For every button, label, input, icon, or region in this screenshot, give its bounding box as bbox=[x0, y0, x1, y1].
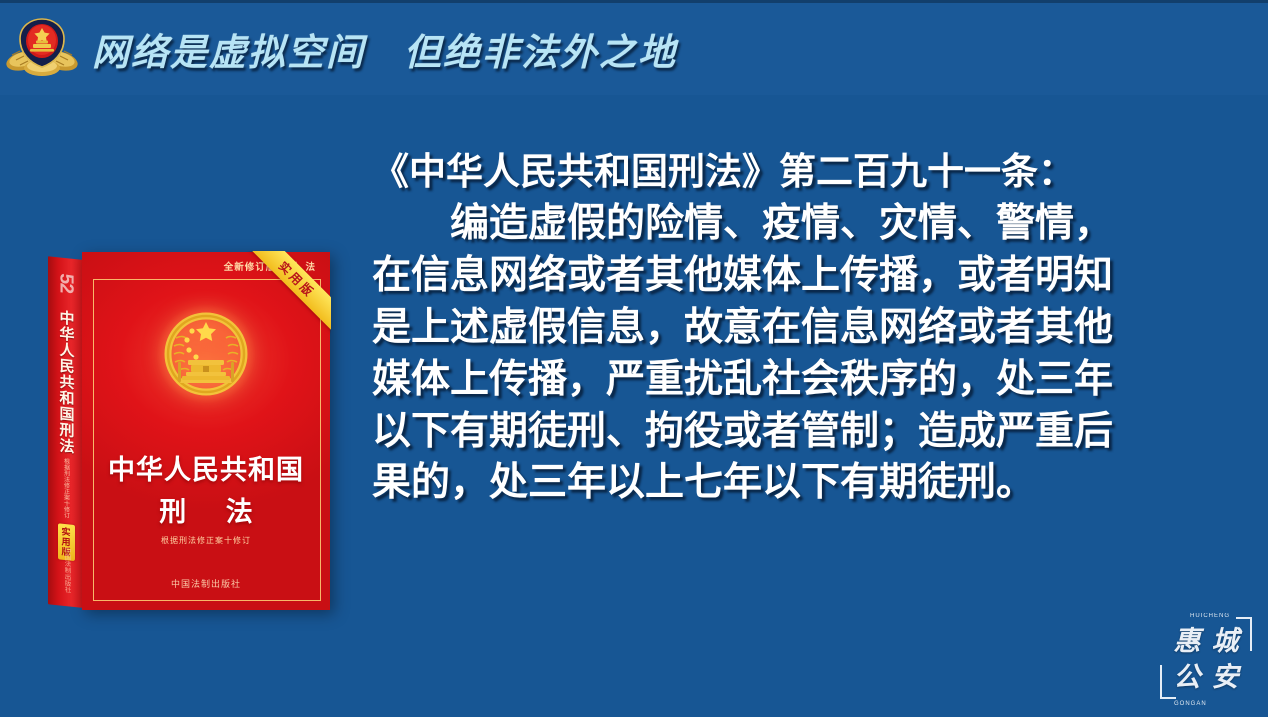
law-line: 在信息网络或者其他媒体上传播，或者明知 bbox=[372, 250, 1238, 302]
book-spine-publisher: 中国法制出版社 bbox=[61, 546, 71, 593]
book-spine-number: 52 bbox=[55, 272, 77, 293]
law-line: 果的，处三年以上七年以下有期徒刑。 bbox=[372, 457, 1238, 509]
watermark-char: 公 bbox=[1174, 664, 1201, 691]
header-banner: 网络是虚拟空间 但绝非法外之地 bbox=[0, 3, 1268, 95]
law-line: 编造虚假的险情、疫情、灾情、警情， bbox=[372, 198, 1238, 250]
book-cover-subtitle: 根据刑法修正案十修订 bbox=[82, 535, 330, 546]
watermark-char: 惠 bbox=[1174, 628, 1201, 655]
watermark-char: 城 bbox=[1212, 628, 1239, 655]
law-line: 是上述虚假信息，故意在信息网络或者其他 bbox=[372, 302, 1238, 354]
law-body: 编造虚假的险情、疫情、灾情、警情， 在信息网络或者其他媒体上传播，或者明知 是上… bbox=[372, 198, 1238, 509]
book-spine: 52 中华人民共和国刑法 根据刑法修正案十修订 实用版 中国法制出版社 bbox=[48, 256, 84, 608]
criminal-law-book-image: 52 中华人民共和国刑法 根据刑法修正案十修订 实用版 中国法制出版社 全新修订… bbox=[48, 252, 330, 610]
police-badge-icon bbox=[6, 13, 78, 85]
book-edition-line: 全新修订版 · 刑 法 bbox=[224, 259, 316, 273]
law-line: 媒体上传播，严重扰乱社会秩序的，处三年 bbox=[372, 354, 1238, 406]
book-title-line1: 中华人民共和国 bbox=[82, 448, 330, 487]
book-title-line2: 刑 法 bbox=[82, 490, 330, 529]
national-emblem-icon bbox=[154, 304, 258, 408]
book-front-cover: 全新修订版 · 刑 法 实用版 bbox=[82, 252, 330, 610]
book-spine-subtitle: 根据刑法修正案十修订 bbox=[62, 458, 71, 519]
huicheng-police-watermark: HUICHENG 惠 城 公 安 GONGAN bbox=[1158, 611, 1254, 707]
watermark-char: 安 bbox=[1212, 664, 1239, 691]
law-heading: 《中华人民共和国刑法》第二百九十一条： bbox=[372, 148, 1238, 196]
watermark-characters: 惠 城 公 安 bbox=[1168, 623, 1244, 695]
book-spine-title: 中华人民共和国刑法 bbox=[59, 309, 74, 455]
watermark-pinyin-bottom: GONGAN bbox=[1174, 701, 1207, 707]
header-slogan: 网络是虚拟空间 但绝非法外之地 bbox=[92, 22, 677, 76]
watermark-pinyin-top: HUICHENG bbox=[1190, 613, 1230, 619]
book-publisher: 中国法制出版社 bbox=[82, 577, 330, 590]
law-line: 以下有期徒刑、拘役或者管制；造成严重后 bbox=[372, 406, 1238, 458]
law-text-block: 《中华人民共和国刑法》第二百九十一条： 编造虚假的险情、疫情、灾情、警情， 在信… bbox=[372, 148, 1238, 509]
